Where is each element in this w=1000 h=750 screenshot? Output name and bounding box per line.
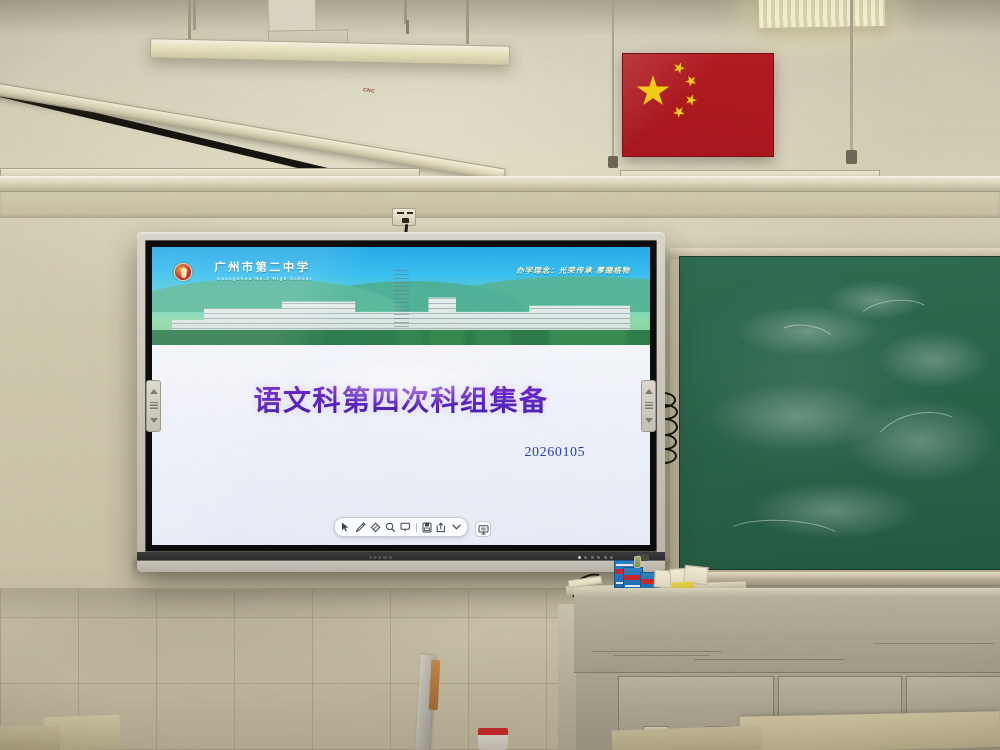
status-led	[597, 556, 600, 559]
hanging-cable	[850, 0, 853, 150]
flag-star-large	[636, 75, 670, 108]
interactive-whiteboard-display[interactable]: 广州市第二中学 GuangZhou No.2 High School 办学理念：…	[137, 232, 665, 572]
annotation-toolbar[interactable]	[334, 517, 468, 537]
light-hanger-rod	[406, 20, 409, 34]
export-icon[interactable]	[434, 520, 449, 534]
status-led	[591, 556, 594, 559]
eraser-icon[interactable]	[368, 520, 383, 534]
down-triangle-icon[interactable]	[149, 416, 158, 425]
power-led	[578, 556, 581, 559]
cursor-icon[interactable]	[338, 520, 353, 534]
save-icon[interactable]	[419, 520, 434, 534]
desk-surface	[612, 725, 763, 750]
up-triangle-icon[interactable]	[644, 387, 653, 396]
slide-date: 20260105	[524, 445, 585, 461]
slide-banner: 广州市第二中学 GuangZhou No.2 High School 办学理念：…	[152, 247, 650, 345]
display-status-leds	[578, 556, 614, 559]
cable-clip	[608, 156, 618, 168]
menu-icon[interactable]	[149, 401, 158, 410]
ceiling-fluorescent-light	[758, 0, 887, 29]
school-crest	[174, 263, 192, 281]
classroom-photo: CNC	[0, 0, 1000, 750]
display-side-buttons-right[interactable]	[641, 380, 656, 432]
down-triangle-icon[interactable]	[644, 416, 653, 425]
podium-top	[574, 588, 1000, 597]
menu-icon[interactable]	[644, 401, 653, 410]
hanging-cable	[612, 0, 614, 164]
ceiling-panel	[267, 0, 316, 33]
chinese-national-flag	[622, 53, 774, 157]
cable-clip	[846, 150, 857, 164]
display-brand-logo: seewo	[369, 555, 394, 561]
banner-trees	[152, 330, 650, 346]
desktop-icon[interactable]	[475, 521, 491, 537]
slide-title: 语文科第四次科组集备	[152, 379, 650, 419]
banner-clock-tower	[394, 267, 410, 340]
red-lid-container	[478, 728, 508, 750]
flag-star-small	[671, 60, 687, 76]
pen-icon[interactable]	[353, 520, 368, 534]
slide-body: 语文科第四次科组集备 20260105	[152, 345, 650, 545]
chevron-down-icon[interactable]	[449, 520, 464, 534]
wall-rail	[0, 176, 1000, 192]
toolbar-separator	[416, 523, 417, 532]
up-triangle-icon[interactable]	[149, 387, 158, 396]
display-inner-bezel: 广州市第二中学 GuangZhou No.2 High School 办学理念：…	[145, 240, 657, 552]
light-hanger-rod	[193, 0, 196, 30]
spotlight-icon[interactable]	[398, 520, 413, 534]
status-led	[604, 556, 607, 559]
flag-star-small	[671, 104, 688, 121]
school-name-en: GuangZhou No.2 High School	[217, 276, 313, 281]
chalkboard-surface	[679, 256, 1000, 570]
wall-power-outlet	[392, 208, 416, 226]
flag-star-small	[683, 92, 698, 107]
podium-front-panel	[574, 597, 1000, 673]
display-side-buttons-left[interactable]	[146, 380, 161, 432]
chair-back	[0, 726, 60, 750]
wall-rail-lower	[0, 192, 1000, 218]
light-hanger-rod	[466, 0, 469, 44]
school-name-cn: 广州市第二中学	[214, 259, 310, 275]
school-motto: 办学理念：光荣传承 厚德格物	[516, 265, 630, 276]
display-screen[interactable]: 广州市第二中学 GuangZhou No.2 High School 办学理念：…	[152, 247, 650, 545]
green-chalkboard	[670, 248, 1000, 578]
status-led	[610, 556, 613, 559]
magnifier-icon[interactable]	[383, 520, 398, 534]
status-led	[584, 556, 587, 559]
desk-surface	[740, 711, 1000, 750]
green-bottle	[634, 556, 641, 568]
flag-star-small	[683, 73, 700, 90]
